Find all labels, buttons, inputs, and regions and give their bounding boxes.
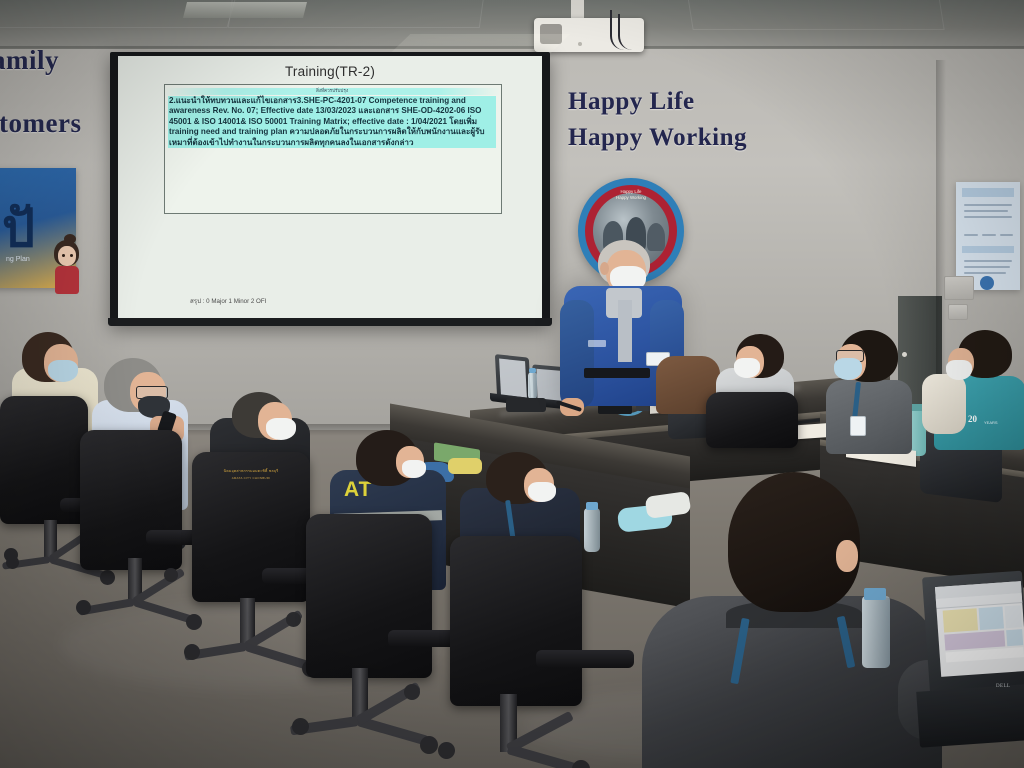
- wall-panel: [944, 276, 974, 300]
- foreground-attendee-ear: [836, 540, 858, 572]
- ceiling-light: [183, 2, 307, 18]
- spreadsheet-cell: [943, 608, 978, 632]
- attendee-left-1-mask: [48, 360, 78, 382]
- screen-bottom-bar: [108, 318, 552, 326]
- chair-embroidery-thai: นิคมอุตสาหกรรมอมตะซิตี้ ชลบุรี: [192, 468, 310, 474]
- attendee-center-2-mask: [528, 482, 556, 502]
- wall-slogan-left-line2: stomers: [0, 108, 81, 139]
- chair-back: [80, 430, 182, 570]
- poster-text-line: [964, 266, 1010, 268]
- plaque-bottom-text: Happy Working: [578, 195, 684, 200]
- chair-back: [450, 536, 582, 706]
- wall-slogan-left-line1: amily: [0, 45, 59, 76]
- wall-corner-shadow: [936, 60, 946, 420]
- poster-text-line: [1000, 234, 1013, 236]
- poster-subtext: ng Plan: [6, 256, 30, 263]
- slide-body-text: 2.แนะนำให้ทบทวนและแก้ไขเอกสาร3.SHE-PC-42…: [168, 96, 496, 148]
- poster-header-band: [962, 246, 1014, 253]
- spreadsheet-cell: [1004, 605, 1021, 628]
- chair-caster: [100, 570, 115, 585]
- projector-cable: [618, 14, 640, 50]
- anniversary-logo-text: YEARS: [984, 420, 998, 425]
- chair-caster: [292, 718, 309, 735]
- poster-header-band: [962, 188, 1014, 197]
- plaque-top-text: Happy Life: [578, 189, 684, 194]
- chair-caster: [438, 742, 455, 759]
- ceiling-tile: [687, 0, 944, 30]
- attendee-right-2-torso: [826, 380, 912, 454]
- spreadsheet-cell: [1006, 629, 1023, 646]
- bottle-cap: [586, 502, 598, 510]
- poster-text-line: [982, 234, 996, 236]
- anniversary-logo-number: 20: [968, 414, 977, 424]
- presenter-belt: [584, 368, 650, 378]
- poster-seal: [980, 276, 994, 290]
- presenter-chest-logo: [588, 340, 606, 347]
- door-knob: [902, 352, 907, 357]
- foreground-laptop-keyboard: [916, 684, 1024, 748]
- wall-slogan-right-line1: Happy Life: [568, 88, 695, 116]
- foreground-laptop-screen: [935, 581, 1024, 677]
- mascot-eye: [62, 254, 65, 257]
- water-bottle: [584, 508, 600, 552]
- poster-text-line: [964, 272, 1006, 274]
- attendee-at-mask: [402, 460, 426, 478]
- plaque-photo-person: [647, 223, 665, 251]
- mascot-eye: [70, 254, 73, 257]
- poster-text-line: [964, 260, 1012, 262]
- presenter-shirt-placket: [618, 300, 632, 362]
- mascot-body: [55, 266, 79, 294]
- chair-caster: [184, 644, 200, 660]
- slide-title: Training(TR-2): [118, 64, 542, 79]
- laptop-screen: [499, 358, 527, 397]
- poster-text-line: [964, 216, 1012, 218]
- mascot-face: [58, 246, 76, 266]
- attendee-right-2-mask: [834, 358, 862, 380]
- poster-mascot: [48, 236, 84, 294]
- chair-caster: [286, 612, 301, 627]
- wall-switch-panel: [948, 304, 968, 320]
- chair-caster: [186, 614, 202, 630]
- attendee-right-2-badge: [850, 416, 866, 436]
- presenter-ear: [600, 262, 609, 275]
- chair-caster: [404, 684, 420, 700]
- water-bottle: [528, 372, 537, 400]
- chair-caster: [6, 556, 19, 569]
- poster-text-line: [964, 234, 978, 236]
- spreadsheet-cell: [944, 630, 1005, 650]
- spreadsheet-cell: [979, 606, 1004, 630]
- attendee-right-3-mask: [946, 360, 972, 380]
- laptop-brand-logo: DELL: [996, 684, 1010, 689]
- poster-text-line: [964, 204, 1012, 206]
- chair-back: [706, 392, 798, 448]
- chair-back: [306, 514, 432, 678]
- projector-indicator: [578, 42, 582, 46]
- wall-slogan-right-line2: Happy Working: [568, 124, 747, 152]
- projector-unit-on-table: [506, 398, 546, 412]
- bottle-cap: [864, 588, 886, 600]
- slide-subheader: สิ่งที่ควรปรับปรุง: [164, 88, 500, 95]
- projection-screen-surface: Training(TR-2) สิ่งที่ควรปรับปรุง 2.แนะน…: [118, 56, 542, 318]
- yellow-cloth: [448, 458, 482, 474]
- attendee-left-3-mask: [266, 418, 296, 440]
- chair-caster: [420, 736, 438, 754]
- attendee-right-1-mask: [734, 358, 760, 378]
- water-bottle: [862, 596, 890, 668]
- chair-caster: [76, 600, 91, 615]
- presenter-arm-left: [560, 300, 594, 408]
- chair-embroidery-latin: AMATA CITY CHONBURI: [192, 476, 310, 480]
- chair-caster: [164, 568, 178, 582]
- meeting-room-photo: Training(TR-2) สิ่งที่ควรปรับปรุง 2.แนะน…: [0, 0, 1024, 768]
- bottle-cap: [529, 368, 536, 373]
- right-wall-poster: [956, 182, 1020, 290]
- attendee-right-3-shoulder: [922, 374, 966, 434]
- chair-armrest: [536, 650, 634, 668]
- slide-footer: สรุป : 0 Major 1 Minor 2 OFI: [190, 296, 266, 306]
- poster-text-line: [964, 210, 1008, 212]
